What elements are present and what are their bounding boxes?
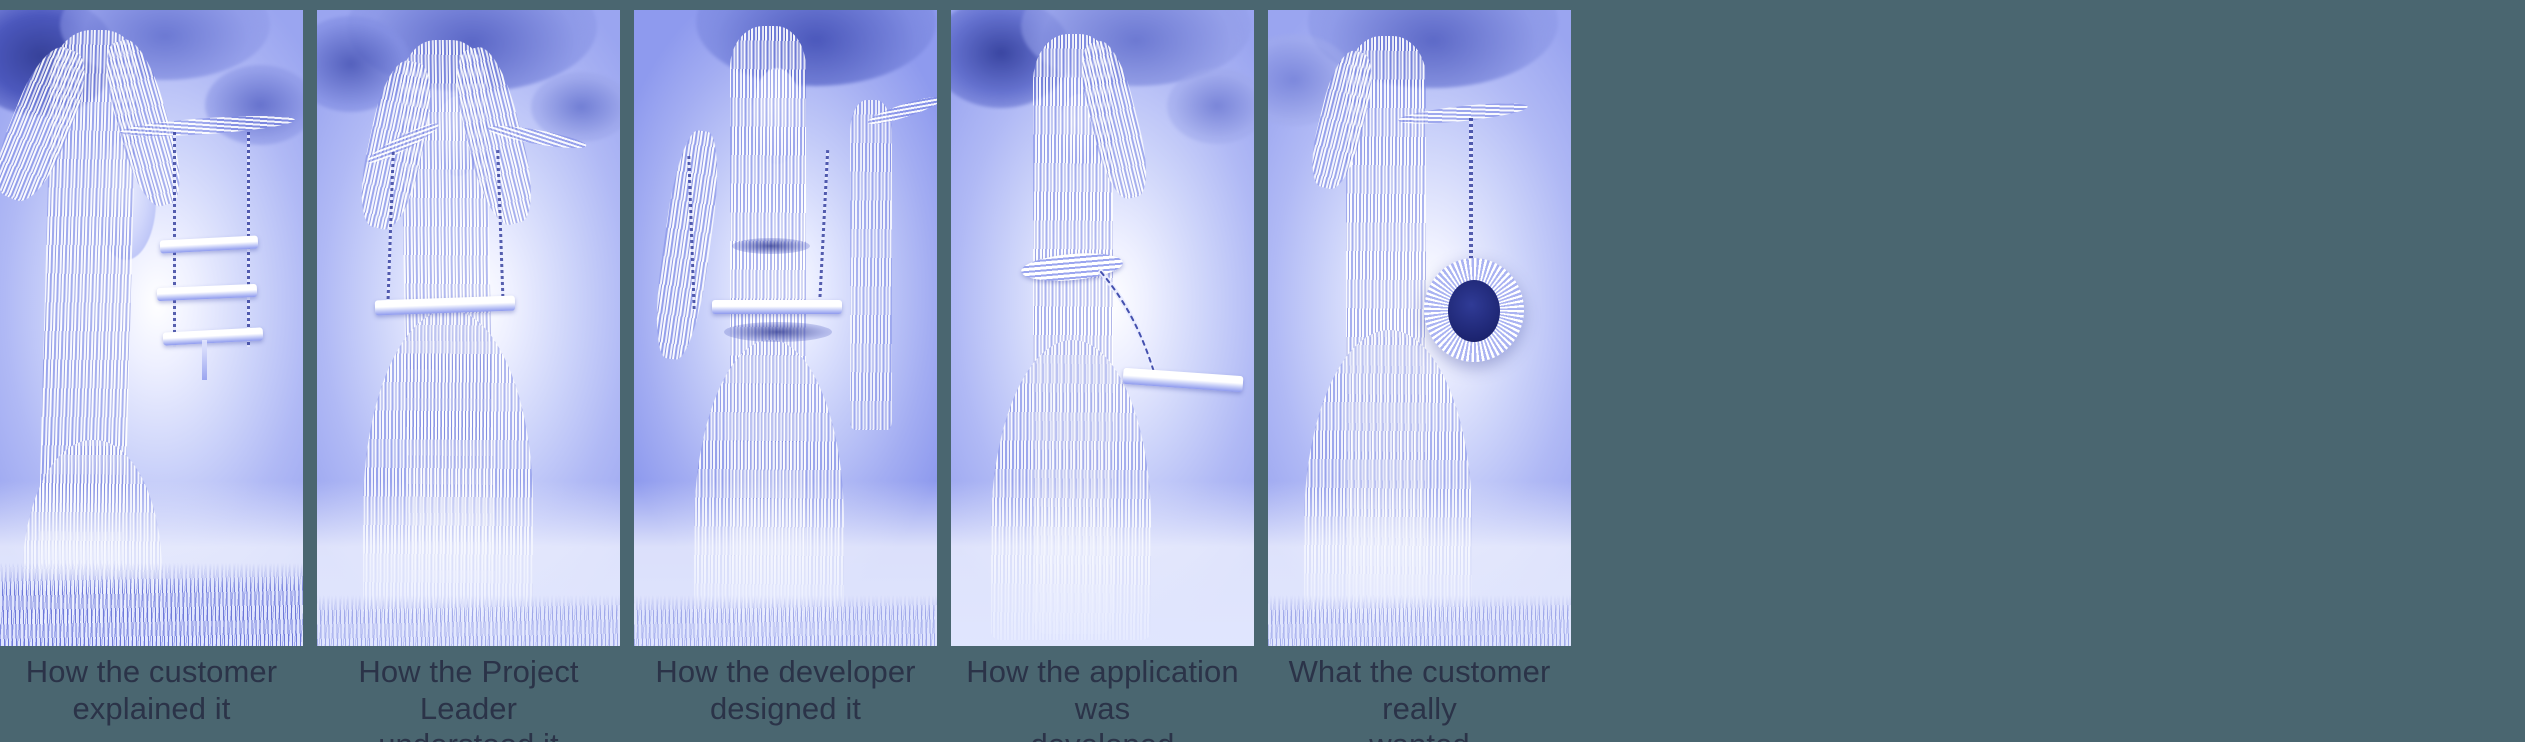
panel-3: How the developer designed it	[634, 0, 937, 742]
panel-5-illustration	[1268, 10, 1571, 646]
seat-shadow	[724, 322, 832, 342]
swing-seat-plank	[712, 300, 842, 314]
panel-2: How the Project Leader understood it	[317, 0, 620, 742]
panel-4: How the application was developed	[951, 0, 1254, 742]
panel-1-illustration	[0, 10, 303, 646]
grass-texture	[1268, 595, 1571, 646]
panel-3-illustration	[634, 10, 937, 646]
panel-1-caption: How the customer explained it	[0, 646, 303, 742]
tire-swing-rope	[1469, 118, 1473, 278]
ground-haze	[951, 481, 1254, 646]
grass-texture	[634, 595, 937, 646]
tire-hole	[1448, 280, 1500, 342]
floating-seat-upper	[732, 238, 810, 254]
grass-texture	[0, 563, 303, 646]
panel-3-caption: How the developer designed it	[634, 646, 937, 742]
side-tree-right	[850, 100, 892, 430]
panel-1: How the customer explained it	[0, 0, 303, 742]
tree-swing-comic: How the customer explained it	[0, 0, 2525, 742]
panel-2-caption: How the Project Leader understood it	[317, 646, 620, 742]
swing-rope-lower-stub	[202, 340, 207, 380]
panel-strip: How the customer explained it	[0, 0, 2525, 742]
panel-4-caption: How the application was developed	[951, 646, 1254, 742]
panel-5-caption: What the customer really wanted	[1268, 646, 1571, 742]
panel-4-illustration	[951, 10, 1254, 646]
panel-5: What the customer really wanted	[1268, 0, 1571, 742]
grass-texture	[317, 595, 620, 646]
panel-2-illustration	[317, 10, 620, 646]
